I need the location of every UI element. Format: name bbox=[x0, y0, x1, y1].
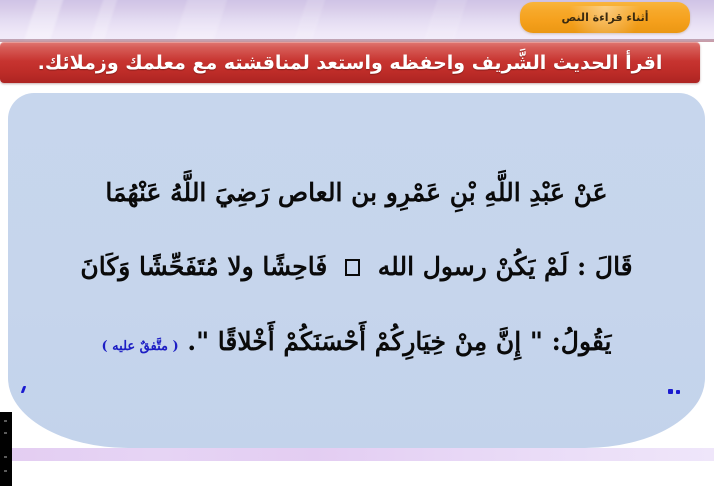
missing-glyph-box-icon bbox=[345, 259, 360, 276]
bottom-white-band bbox=[0, 461, 714, 486]
decorative-brush-streak bbox=[291, 0, 327, 42]
decorative-brush-streak bbox=[21, 0, 65, 42]
instruction-banner-text: اقرأ الحديث الشَّريف واحفظه واستعد لمناق… bbox=[38, 52, 663, 74]
hadith-source-attribution: ( متَّفقٌ عليه ) bbox=[102, 339, 179, 354]
section-tab-label: أثناء قراءة النص bbox=[561, 11, 648, 24]
edge-tick-mark bbox=[4, 470, 7, 472]
instruction-banner: اقرأ الحديث الشَّريف واحفظه واستعد لمناق… bbox=[0, 42, 700, 83]
decorative-brush-streak bbox=[171, 0, 229, 42]
scan-artifact-ink-mark bbox=[668, 389, 673, 394]
section-tab-during-reading[interactable]: أثناء قراءة النص bbox=[520, 2, 690, 33]
hadith-text-panel: عَنْ عَبْدِ اللَّهِ بْنِ عَمْرِو بن العا… bbox=[8, 93, 705, 448]
hadith-line-3-text: يَقُولُ: " إِنَّ مِنْ خِيَارِكُمْ أَحْسَ… bbox=[187, 327, 611, 356]
edge-tick-mark bbox=[4, 420, 7, 422]
left-edge-black-strip bbox=[0, 412, 12, 486]
slide-canvas: أثناء قراءة النص اقرأ الحديث الشَّريف وا… bbox=[0, 0, 714, 486]
decorative-brush-streak bbox=[87, 0, 119, 42]
edge-tick-mark bbox=[4, 432, 7, 434]
decorative-brush-streak bbox=[421, 0, 469, 42]
hadith-line-2-before-glyph: قَالَ : لَمْ يَكُنْ رسول الله bbox=[378, 252, 633, 281]
hadith-line-2-after-glyph: فَاحِشًا ولا مُتَفَحِّشًا وَكَانَ bbox=[80, 252, 327, 281]
hadith-line-2: قَالَ : لَمْ يَكُنْ رسول الله فَاحِشًا و… bbox=[14, 254, 699, 280]
hadith-line-3: يَقُولُ: " إِنَّ مِنْ خِيَارِكُمْ أَحْسَ… bbox=[14, 329, 699, 355]
footer-background-strip bbox=[0, 448, 714, 461]
hadith-line-1: عَنْ عَبْدِ اللَّهِ بْنِ عَمْرِو بن العا… bbox=[14, 180, 699, 206]
edge-tick-mark bbox=[4, 456, 7, 458]
scan-artifact-ink-mark bbox=[676, 390, 680, 394]
